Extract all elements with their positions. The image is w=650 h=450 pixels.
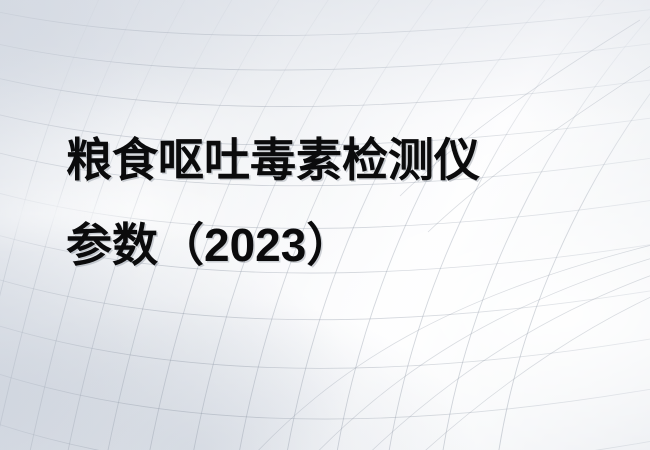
title-line-2: 参数（2023） xyxy=(66,203,480,288)
title-line-1: 粮食呕吐毒素检测仪 xyxy=(66,118,480,203)
banner-title: 粮食呕吐毒素检测仪 参数（2023） xyxy=(66,118,480,288)
title-banner: 粮食呕吐毒素检测仪 参数（2023） xyxy=(0,0,650,450)
